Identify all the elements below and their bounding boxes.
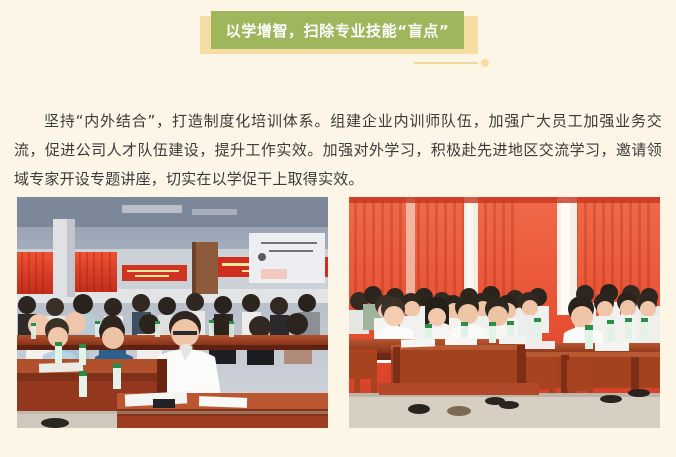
meeting-attendees-photo [349,197,660,428]
photo-gallery [17,197,660,428]
meeting-attendees-image [349,197,660,428]
training-classroom-image [17,197,328,428]
heading-title: 以学增智，扫除专业技能“盲点” [226,20,450,41]
body-paragraph: 坚持“内外结合”，打造制度化培训体系。组建企业内训师队伍，加强广大员工加强业务交… [14,107,662,194]
decorative-dot-icon [481,59,489,67]
article-page: 以学增智，扫除专业技能“盲点” 坚持“内外结合”，打造制度化培训体系。组建企业内… [0,0,676,457]
decorative-rule [414,62,478,64]
training-classroom-photo [17,197,328,428]
heading-banner: 以学增智，扫除专业技能“盲点” [211,11,464,49]
section-heading: 以学增智，扫除专业技能“盲点” [200,11,478,57]
